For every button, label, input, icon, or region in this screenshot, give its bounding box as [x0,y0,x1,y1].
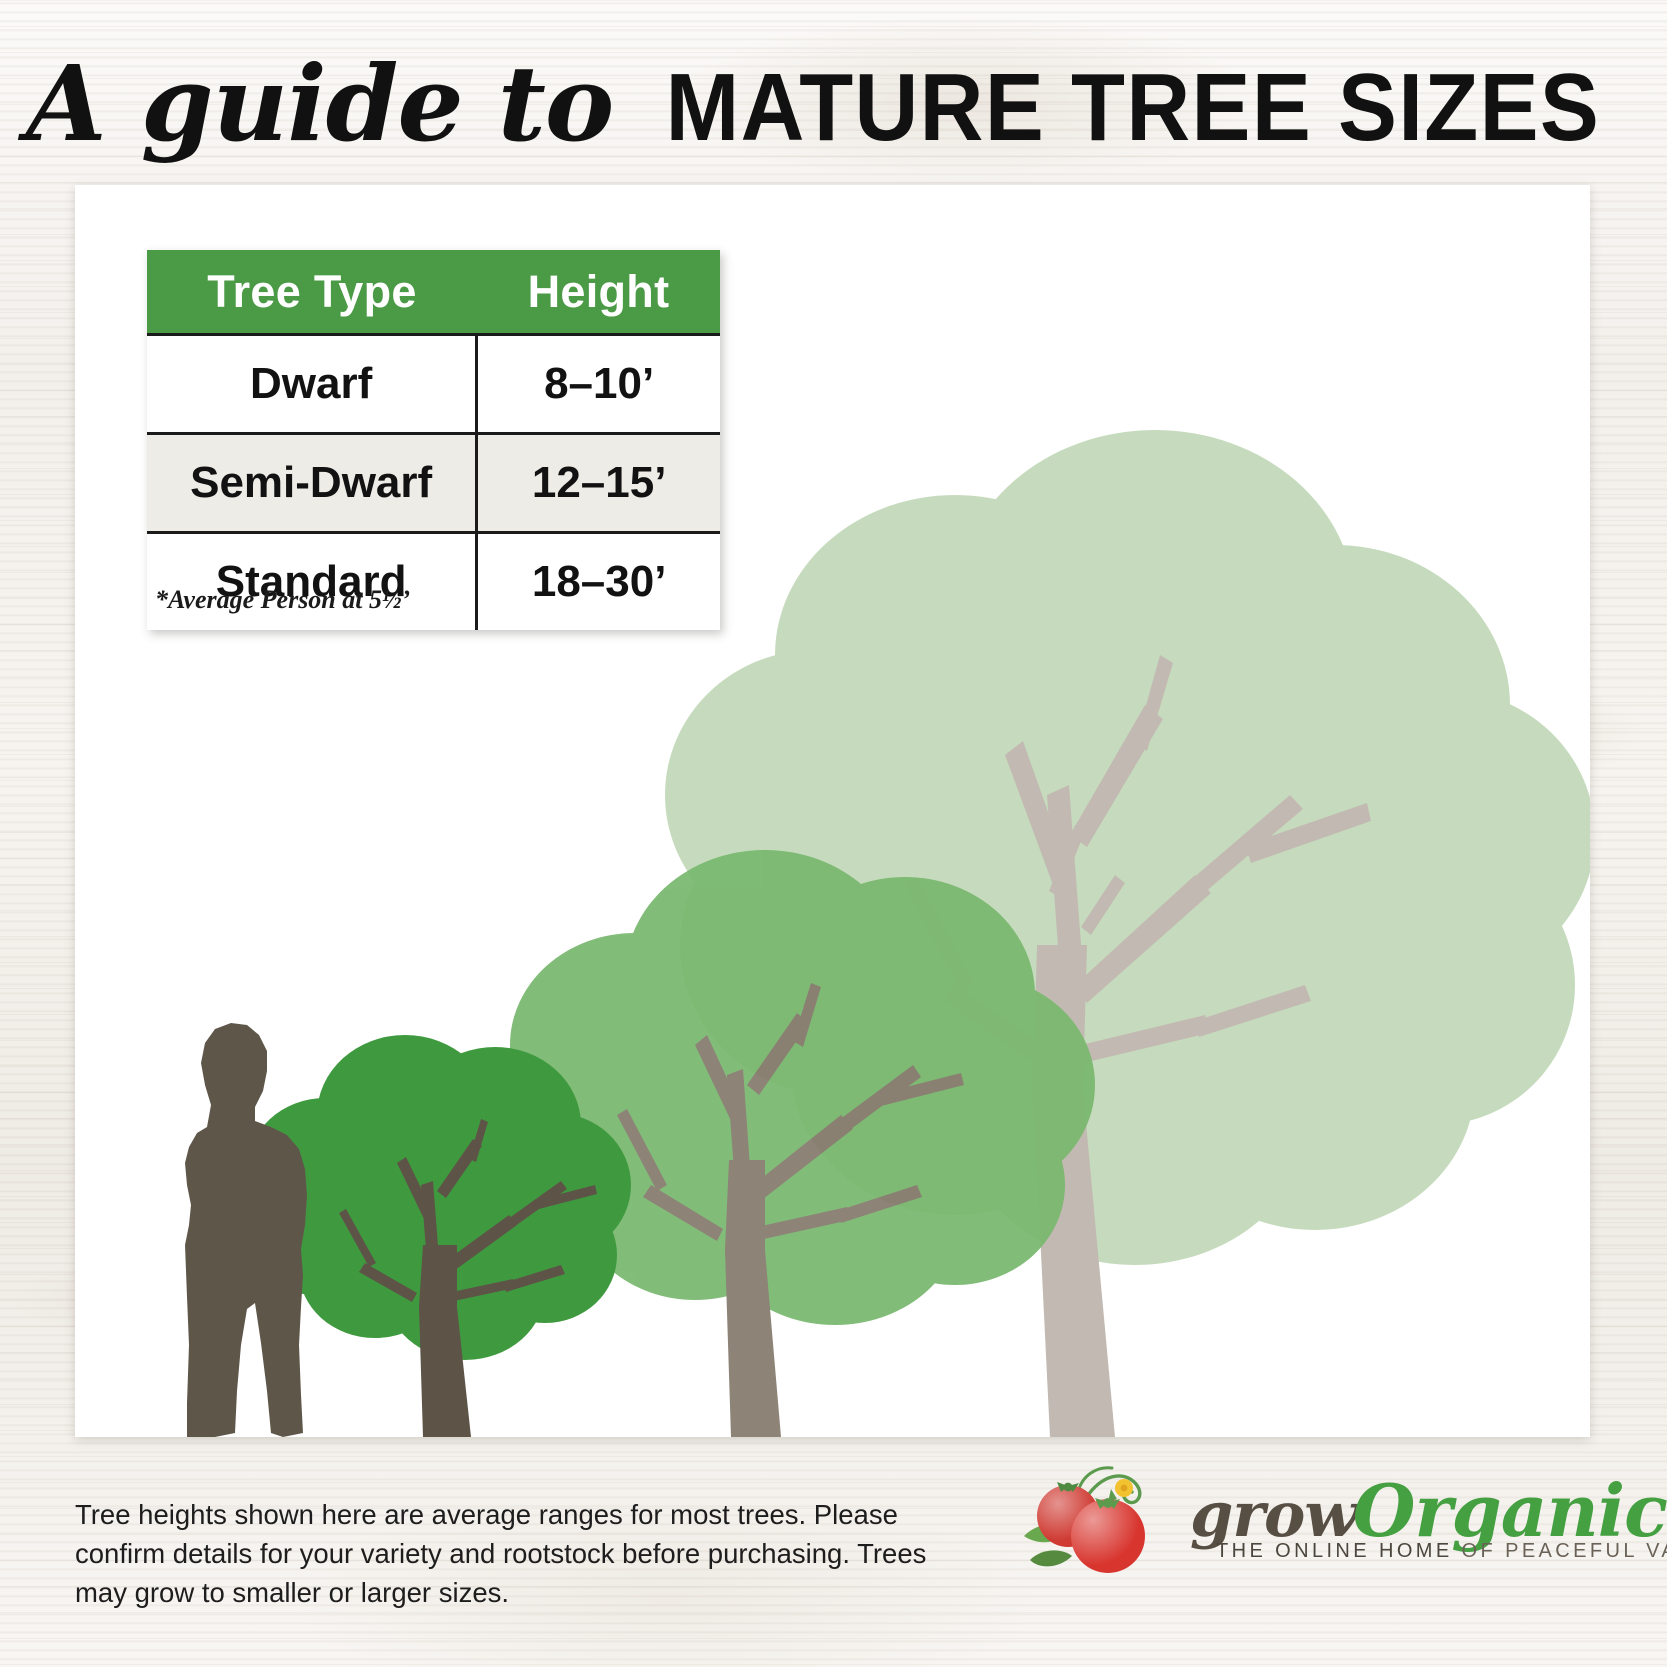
page-title: A guide toMATURE TREE SIZES [0,42,1667,165]
table-footnote: *Average Person at 5½’ [155,585,410,615]
logo-tagline-left: THE ONLINE HOME [1216,1540,1453,1562]
cell-height: 8–10’ [475,336,720,432]
title-caps-part: MATURE TREE SIZES [666,53,1601,163]
logo-tagline-right: OF PEACEFUL VALLEY [1462,1540,1667,1562]
table-row: Standard 18–30’ [147,531,720,630]
disclaimer-text: Tree heights shown here are average rang… [75,1495,975,1612]
tree-size-table: Tree Type Height Dwarf 8–10’ Semi-Dwarf … [147,250,720,630]
grow-organic-logo[interactable]: growOrganic.COM THE ONLINE HOME OF PEACE… [1020,1440,1600,1585]
tomato-vine-icon [1016,1440,1196,1585]
title-script-part: A guide to [26,42,613,165]
table-row: Dwarf 8–10’ [147,333,720,432]
infographic-panel: Tree Type Height Dwarf 8–10’ Semi-Dwarf … [75,185,1590,1437]
cell-tree-type: Semi-Dwarf [147,435,475,531]
table-header-row: Tree Type Height [147,250,720,333]
cell-height: 18–30’ [475,534,720,630]
cell-tree-type: Dwarf [147,336,475,432]
cell-height: 12–15’ [475,435,720,531]
table-row: Semi-Dwarf 12–15’ [147,432,720,531]
cell-tree-type: Standard [147,534,475,630]
flower-icon [1115,1479,1133,1497]
logo-tagline: THE ONLINE HOME OF PEACEFUL VALLEY [1216,1540,1667,1563]
table-header-tree-type: Tree Type [147,250,477,333]
table-header-height: Height [477,250,720,333]
average-person-silhouette [185,1023,307,1437]
